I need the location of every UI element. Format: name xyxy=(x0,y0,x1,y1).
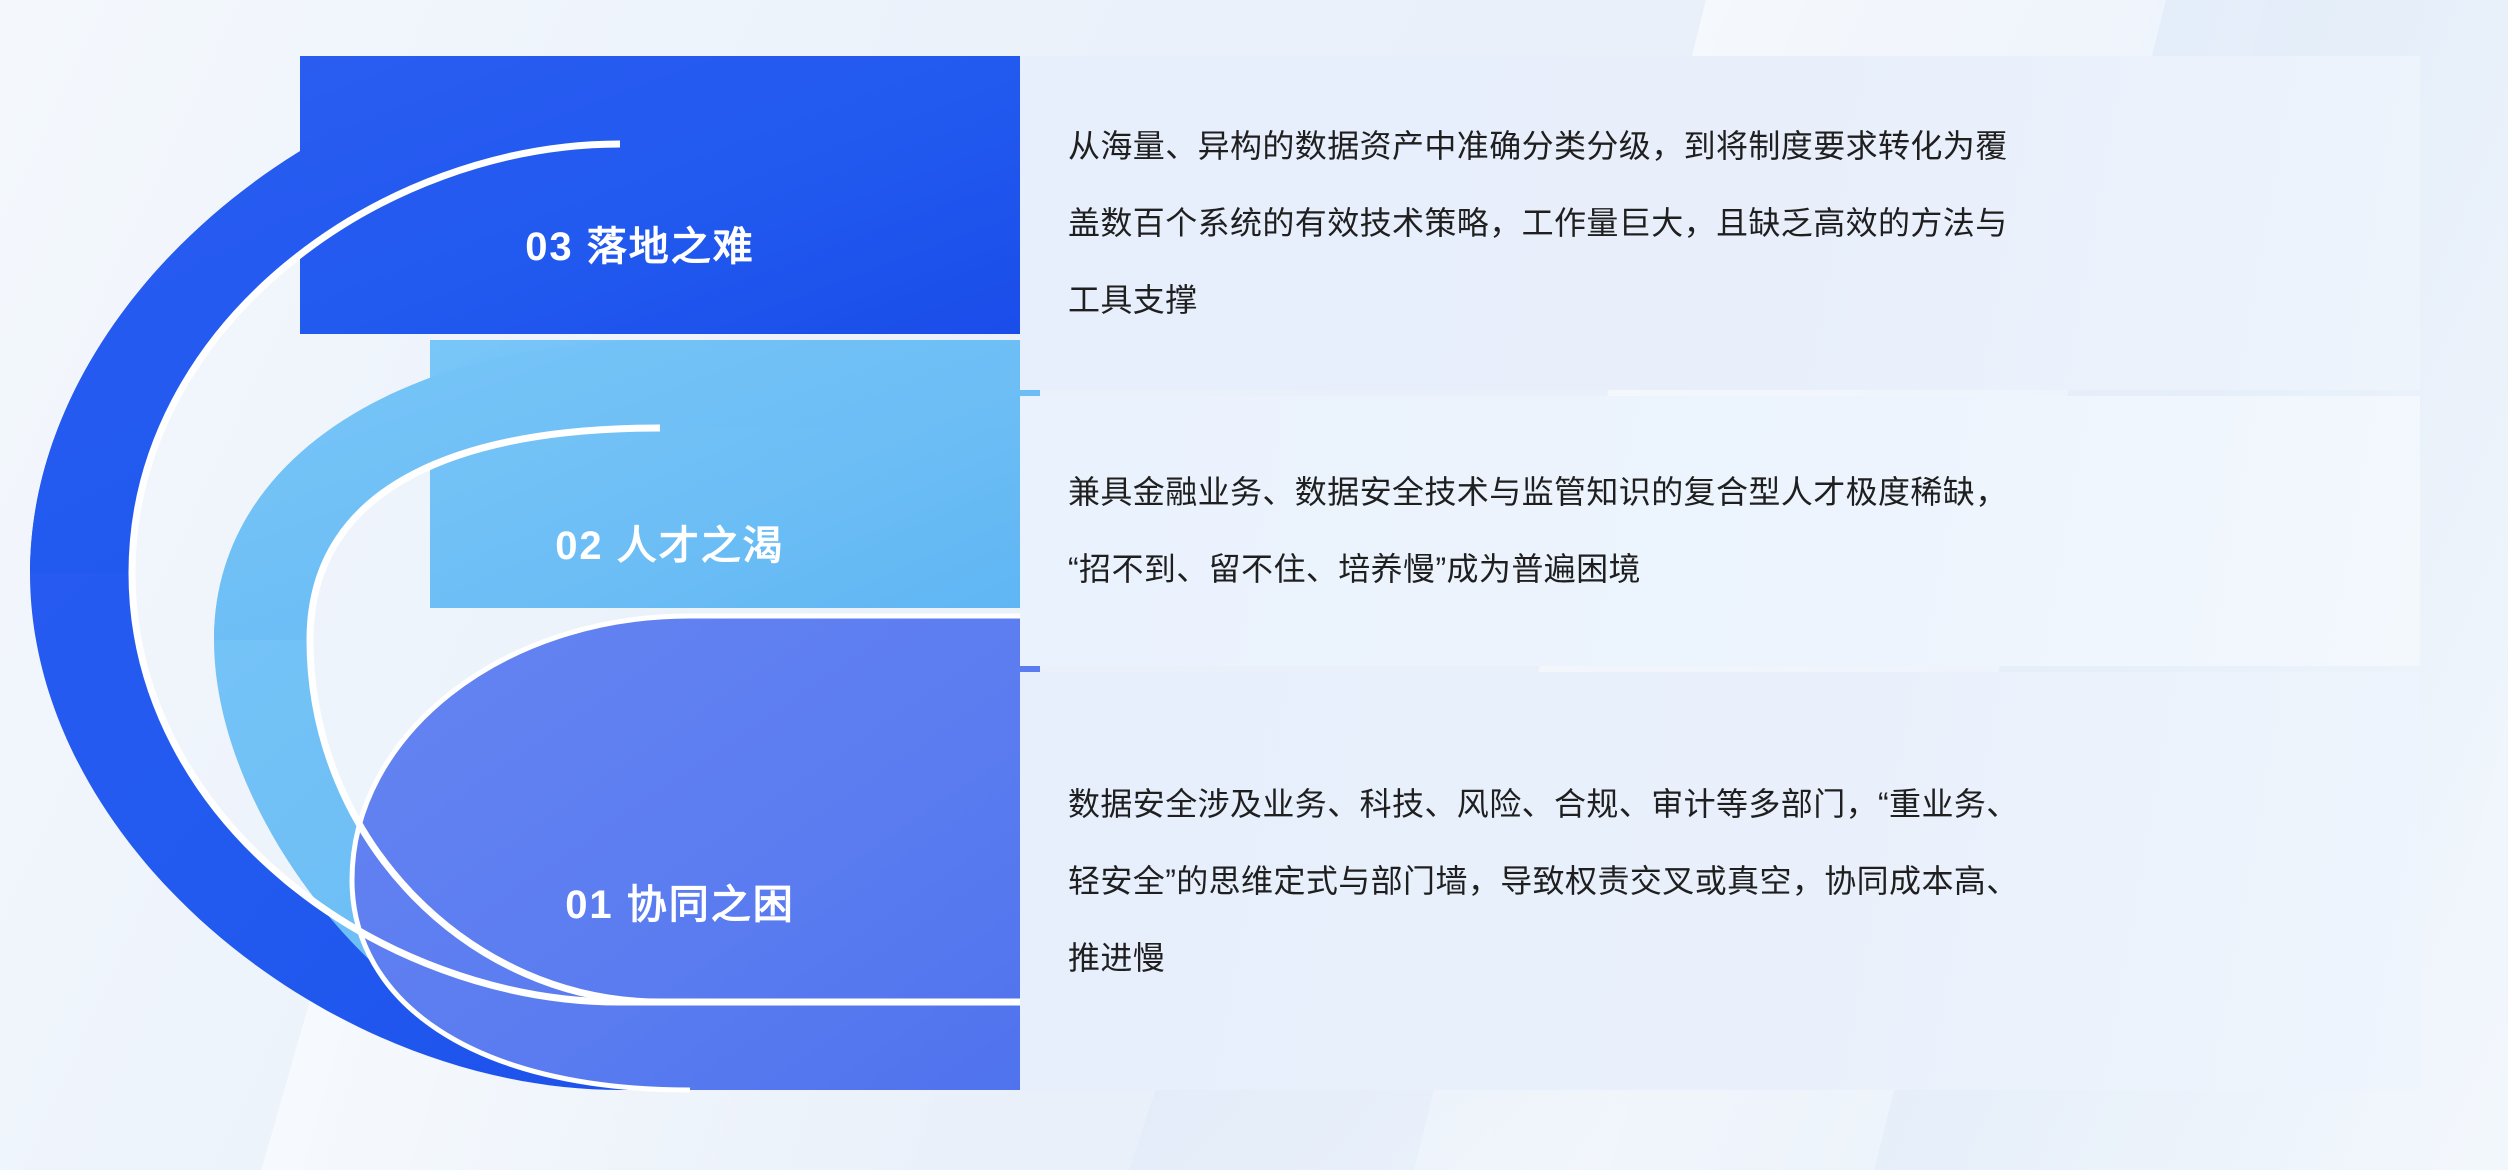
description-line: “招不到、留不住、培养慢”成为普遍困境 xyxy=(1068,531,2376,608)
description-panel-01: 数据安全涉及业务、科技、风险、合规、审计等多部门，“重业务、 轻安全”的思维定式… xyxy=(1020,672,2420,1090)
description-line: 盖数百个系统的有效技术策略，工作量巨大，且缺乏高效的方法与 xyxy=(1068,185,2376,262)
description-line: 数据安全涉及业务、科技、风险、合规、审计等多部门，“重业务、 xyxy=(1068,766,2376,843)
description-line: 兼具金融业务、数据安全技术与监管知识的复合型人才极度稀缺， xyxy=(1068,454,2376,531)
description-panel-02: 兼具金融业务、数据安全技术与监管知识的复合型人才极度稀缺， “招不到、留不住、培… xyxy=(1020,396,2420,666)
arch-label-02: 02 人才之渴 xyxy=(390,513,950,571)
arch-row-03-plate xyxy=(300,56,1040,334)
nested-arches-graphic xyxy=(0,0,1040,1170)
description-panels: 从海量、异构的数据资产中准确分类分级，到将制度要求转化为覆 盖数百个系统的有效技… xyxy=(1020,56,2420,1090)
description-line: 推进慢 xyxy=(1068,920,2376,997)
description-line: 工具支撑 xyxy=(1068,262,2376,339)
diagram-canvas: 03 落地之难 02 人才之渴 01 协同之困 从海量、异构的数据资产中准确分类… xyxy=(0,0,2508,1170)
arch-label-01: 01 协同之困 xyxy=(400,872,960,930)
description-panel-03: 从海量、异构的数据资产中准确分类分级，到将制度要求转化为覆 盖数百个系统的有效技… xyxy=(1020,56,2420,390)
description-line: 从海量、异构的数据资产中准确分类分级，到将制度要求转化为覆 xyxy=(1068,108,2376,185)
description-line: 轻安全”的思维定式与部门墙，导致权责交叉或真空，协同成本高、 xyxy=(1068,843,2376,920)
arch-label-03: 03 落地之难 xyxy=(360,214,920,272)
